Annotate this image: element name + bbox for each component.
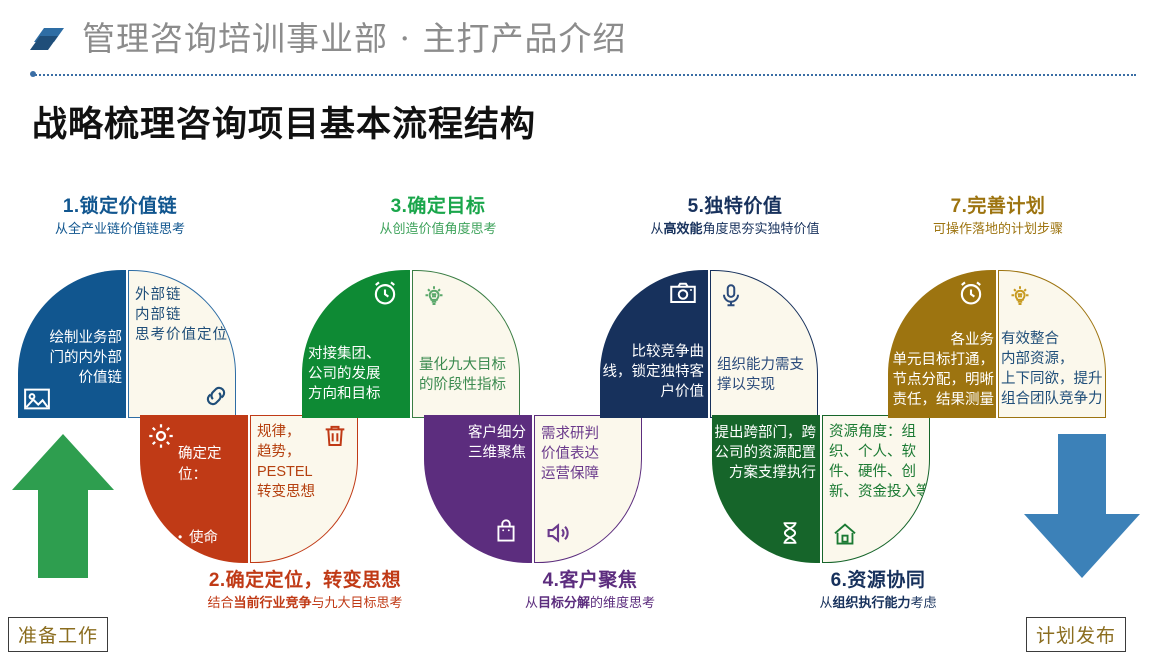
group-title-6: 6.资源协同: [718, 570, 1038, 592]
page-title: 战略梳理咨询项目基本流程结构: [32, 96, 536, 147]
petal-2-left-heading: 确定定位：: [178, 444, 246, 486]
group-subtitle-1: 从全产业链价值链思考: [20, 220, 220, 238]
subtitle-pre: 结合: [207, 595, 233, 610]
group-heading-5: 5.独特价值 从高效能角度思夯实独特价值: [590, 196, 880, 238]
petal-2-left-body: 确定定位： 使命 价值主张 价值宣言: [178, 423, 246, 563]
subtitle-pre: 从: [819, 595, 832, 610]
camera-icon: [668, 278, 698, 308]
group-heading-3: 3.确定目标 从创造价值角度思考: [338, 196, 538, 238]
subtitle-post: 的维度思考: [590, 595, 655, 610]
shopping-bag-icon: [492, 517, 522, 547]
petal-5-right[interactable]: 组织能力需支 撑以实现: [710, 270, 818, 418]
petal-1-left-text: 绘制业务部 门的内外部 价值链: [22, 328, 122, 388]
subtitle-pre: 从: [650, 221, 663, 236]
petal-6-left[interactable]: 提出跨部门，跨 公司的资源配置 方案支撑执行: [712, 415, 820, 563]
petal-7-left[interactable]: 各业务 单元目标打通， 节点分配，明晰 责任，结果测量: [888, 270, 996, 418]
blue-down-arrow: [1022, 432, 1142, 580]
speaker-icon: [543, 518, 573, 548]
endcap-start[interactable]: 准备工作: [8, 617, 108, 652]
petal-2-left-bullets: 使命 价值主张 价值宣言: [178, 507, 246, 563]
subtitle-bold: 目标分解: [538, 595, 590, 610]
group-title-5: 5.独特价值: [590, 196, 880, 218]
trash-icon: [321, 422, 351, 452]
group-subtitle-2: 结合当前行业竞争与九大目标思考: [145, 594, 465, 612]
group-footing-2: 2.确定定位，转变思想 结合当前行业竞争与九大目标思考: [145, 570, 465, 612]
petal-3-right[interactable]: 量化九大目标 的阶段性指标: [412, 270, 520, 418]
subtitle-bold: 组织执行能力: [832, 595, 910, 610]
process-flow-diagram: 1.锁定价值链 从全产业链价值链思考 绘制业务部 门的内外部 价值链 外部链 内…: [0, 170, 1154, 663]
group-subtitle-5: 从高效能角度思夯实独特价值: [590, 220, 880, 238]
petal-6-left-text: 提出跨部门，跨 公司的资源配置 方案支撑执行: [712, 423, 816, 483]
petal-5-left-text: 比较竞争曲 线，锁定独特客 户价值: [600, 342, 704, 402]
petal-1-right-text: 外部链 内部链 思考价值定位: [135, 285, 235, 345]
petal-4-left[interactable]: 客户细分 三维聚焦: [424, 415, 532, 563]
group-subtitle-4: 从目标分解的维度思考: [430, 594, 750, 612]
group-footing-6: 6.资源协同 从组织执行能力考虑: [718, 570, 1038, 612]
group-title-7: 7.完善计划: [878, 196, 1118, 218]
group-subtitle-3: 从创造价值角度思考: [338, 220, 538, 238]
green-up-arrow: [10, 432, 116, 580]
microphone-icon: [717, 281, 747, 311]
group-title-3: 3.确定目标: [338, 196, 538, 218]
petal-6-right[interactable]: 资源角度：组 织、个人、软 件、硬件、创 新、资金投入等: [822, 415, 930, 563]
subtitle-pre: 从: [525, 595, 538, 610]
petal-1-left[interactable]: 绘制业务部 门的内外部 价值链: [18, 270, 126, 418]
petal-2-left[interactable]: 确定定位： 使命 价值主张 价值宣言: [140, 415, 248, 563]
petal-3-left[interactable]: 对接集团、 公司的发展 方向和目标: [302, 270, 410, 418]
subtitle-post: 考虑: [911, 595, 937, 610]
group-heading-7: 7.完善计划 可操作落地的计划步骤: [878, 196, 1118, 238]
petal-3-left-text: 对接集团、 公司的发展 方向和目标: [308, 344, 408, 404]
hourglass-icon: [776, 519, 806, 549]
petal-3-right-text: 量化九大目标 的阶段性指标: [419, 355, 519, 395]
gear-icon: [146, 421, 176, 451]
endcap-end[interactable]: 计划发布: [1026, 617, 1126, 652]
alarm-clock-icon: [956, 278, 986, 308]
subtitle-bold: 当前行业竞争: [233, 595, 311, 610]
header-bar: 管理咨询培训事业部 · 主打产品介绍: [0, 0, 1154, 76]
lightbulb-icon: [419, 281, 449, 311]
group-heading-1: 1.锁定价值链 从全产业链价值链思考: [20, 196, 220, 238]
group-title-2: 2.确定定位，转变思想: [145, 570, 465, 592]
bullet-item: 使命: [178, 528, 246, 549]
petal-4-right-text: 需求研判 价值表达 运营保障: [541, 424, 637, 484]
group-subtitle-6: 从组织执行能力考虑: [718, 594, 1038, 612]
lightbulb-icon: [1005, 281, 1035, 311]
group-title-4: 4.客户聚焦: [430, 570, 750, 592]
group-footing-4: 4.客户聚焦 从目标分解的维度思考: [430, 570, 750, 612]
subtitle-post: 与九大目标思考: [312, 595, 403, 610]
group-title-1: 1.锁定价值链: [20, 196, 220, 218]
petal-7-right-text: 有效整合 内部资源， 上下同欲，提升 组合团队竞争力: [1001, 329, 1106, 409]
petal-5-left[interactable]: 比较竞争曲 线，锁定独特客 户价值: [600, 270, 708, 418]
subtitle-bold: 高效能: [663, 221, 702, 236]
group-subtitle-7: 可操作落地的计划步骤: [878, 220, 1118, 238]
petal-6-right-text: 资源角度：组 织、个人、软 件、硬件、创 新、资金投入等: [829, 422, 930, 502]
picture-icon: [22, 384, 52, 414]
petal-7-right[interactable]: 有效整合 内部资源， 上下同欲，提升 组合团队竞争力: [998, 270, 1106, 418]
petal-5-right-text: 组织能力需支 撑以实现: [717, 355, 817, 395]
link-icon: [201, 381, 231, 411]
alarm-clock-icon: [370, 278, 400, 308]
petal-7-left-text: 各业务 单元目标打通， 节点分配，明晰 责任，结果测量: [888, 330, 994, 410]
subtitle-post: 角度思夯实独特价值: [703, 221, 820, 236]
home-icon: [831, 520, 861, 550]
petal-4-left-text: 客户细分 三维聚焦: [434, 423, 526, 463]
header-divider: [32, 74, 1136, 76]
petal-2-right[interactable]: 规律， 趋势， PESTEL 转变思想: [250, 415, 358, 563]
petal-4-right[interactable]: 需求研判 价值表达 运营保障: [534, 415, 642, 563]
petal-1-right[interactable]: 外部链 内部链 思考价值定位: [128, 270, 236, 418]
header-title: 管理咨询培训事业部 · 主打产品介绍: [82, 12, 626, 60]
parallelogram-logo-icon: [30, 22, 70, 56]
